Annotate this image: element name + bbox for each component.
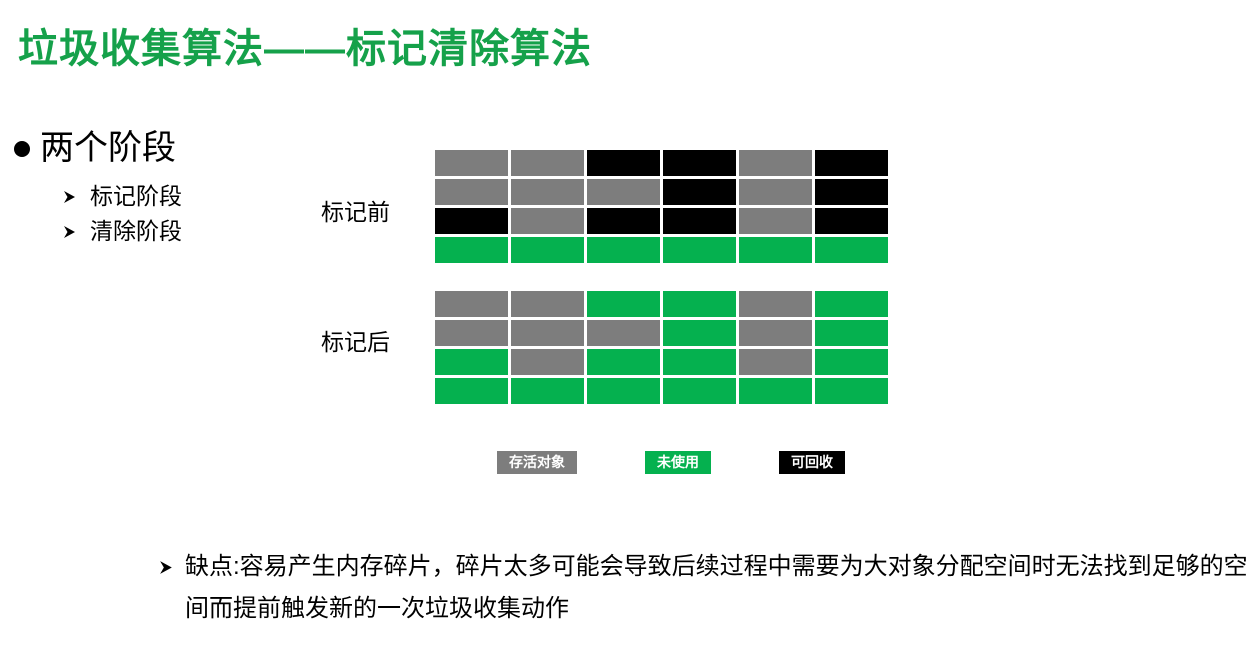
memory-cell: [663, 320, 736, 346]
memory-cell: [587, 237, 660, 263]
memory-cell: [815, 179, 888, 205]
memory-cell: [511, 150, 584, 176]
memory-cell: [815, 237, 888, 263]
legend: 存活对象 未使用 可回收: [497, 451, 845, 474]
memory-cell: [511, 349, 584, 375]
legend-item-reclaimable: 可回收: [779, 451, 845, 474]
memory-cell: [511, 378, 584, 404]
memory-cell: [739, 179, 812, 205]
memory-cell: [587, 150, 660, 176]
memory-cell: [739, 378, 812, 404]
memory-cell: [587, 320, 660, 346]
memory-cell: [435, 291, 508, 317]
memory-cell: [739, 349, 812, 375]
memory-cell: [435, 208, 508, 234]
memory-cell: [815, 150, 888, 176]
memory-cell: [587, 291, 660, 317]
drawback-note-text: 缺点:容易产生内存碎片，碎片太多可能会导致后续过程中需要为大对象分配空间时无法找…: [185, 546, 1248, 630]
legend-item-unused: 未使用: [645, 451, 711, 474]
memory-cell: [663, 291, 736, 317]
filled-circle-bullet-icon: [14, 141, 30, 157]
diagram-label-before: 标记前: [230, 193, 390, 227]
memory-cell: [511, 320, 584, 346]
memory-cell: [435, 378, 508, 404]
page-title: 垃圾收集算法——标记清除算法: [18, 16, 592, 74]
memory-cell: [739, 320, 812, 346]
bullet-level1-label: 两个阶段: [40, 130, 176, 167]
bullet-block: 两个阶段 标记阶段 清除阶段: [14, 130, 314, 251]
memory-cell: [739, 150, 812, 176]
bullet-level2-label: 标记阶段: [90, 181, 182, 212]
memory-cell: [435, 150, 508, 176]
memory-cell: [663, 378, 736, 404]
arrow-bullet-icon: [62, 224, 78, 240]
drawback-note: 缺点:容易产生内存碎片，碎片太多可能会导致后续过程中需要为大对象分配空间时无法找…: [158, 546, 1248, 630]
memory-cell: [511, 237, 584, 263]
memory-cell: [663, 237, 736, 263]
memory-cell: [815, 349, 888, 375]
memory-cell: [815, 208, 888, 234]
memory-cell: [587, 208, 660, 234]
memory-cell: [511, 179, 584, 205]
arrow-bullet-icon: [158, 559, 175, 576]
memory-cell: [587, 378, 660, 404]
memory-cell: [739, 237, 812, 263]
memory-cell: [511, 208, 584, 234]
memory-cell: [435, 179, 508, 205]
diagram-label-after: 标记后: [230, 323, 390, 357]
memory-grid-after: [435, 291, 888, 404]
memory-cell: [815, 291, 888, 317]
memory-cell: [435, 349, 508, 375]
arrow-bullet-icon: [62, 189, 78, 205]
memory-cell: [739, 208, 812, 234]
memory-cell: [435, 237, 508, 263]
legend-item-live-object: 存活对象: [497, 451, 577, 474]
memory-cell: [663, 179, 736, 205]
memory-cell: [815, 378, 888, 404]
memory-grid-before: [435, 150, 888, 263]
memory-cell: [587, 179, 660, 205]
memory-cell: [815, 320, 888, 346]
memory-cell: [511, 291, 584, 317]
memory-cell: [739, 291, 812, 317]
memory-cell: [435, 320, 508, 346]
memory-cell: [663, 208, 736, 234]
bullet-level2-label: 清除阶段: [90, 216, 182, 247]
memory-cell: [663, 150, 736, 176]
memory-cell: [663, 349, 736, 375]
bullet-level1-item: 两个阶段: [14, 130, 314, 167]
memory-cell: [587, 349, 660, 375]
